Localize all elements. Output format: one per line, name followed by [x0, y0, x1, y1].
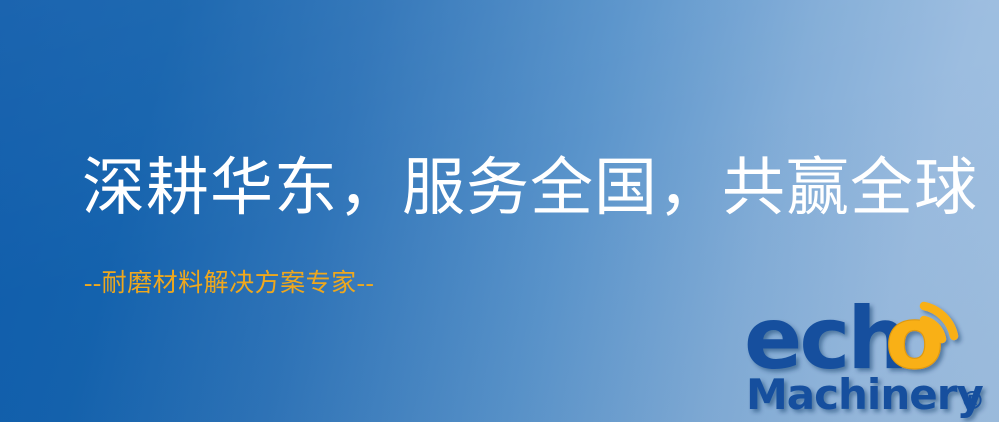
- page-subtitle: --耐磨材料解决方案专家--: [84, 268, 374, 300]
- hero-banner: 深耕华东，服务全国，共赢全球 --耐磨材料解决方案专家-- ech o: [0, 0, 999, 422]
- logo-subbrand: Machinery: [746, 370, 983, 419]
- page-title: 深耕华东，服务全国，共赢全球: [82, 152, 978, 224]
- registered-trademark-icon: ®: [960, 386, 985, 415]
- company-logo[interactable]: ech o Machinery ®: [744, 296, 996, 418]
